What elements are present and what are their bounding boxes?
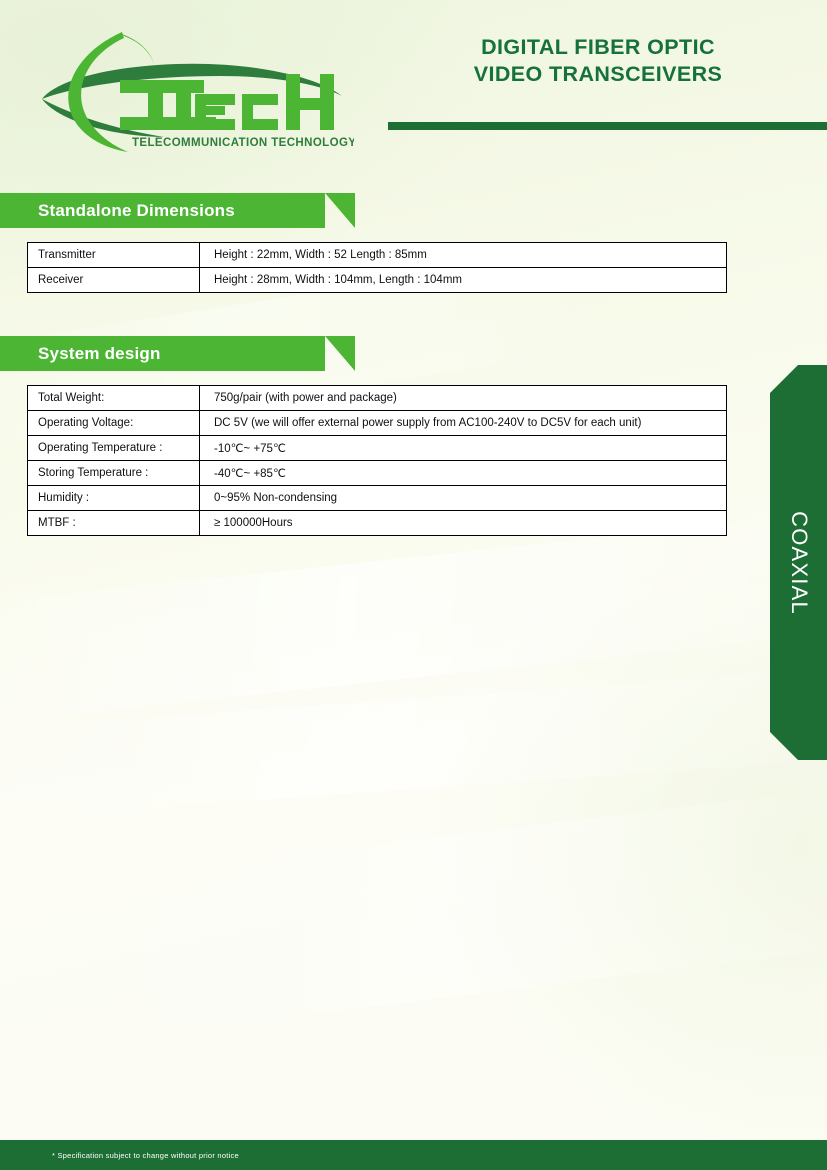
- logo-crescent: [68, 32, 128, 152]
- row-label: Humidity :: [28, 486, 200, 511]
- table-row: Operating Temperature : -10℃~ +75℃: [28, 436, 727, 461]
- side-tab-label: COAXIAL: [786, 511, 812, 615]
- section-header-label: System design: [0, 344, 161, 364]
- background-streak: [0, 669, 827, 820]
- page-title-line-1: DIGITAL FIBER OPTIC: [388, 34, 808, 61]
- row-label: Operating Temperature :: [28, 436, 200, 461]
- section-header-label: Standalone Dimensions: [0, 201, 235, 221]
- row-label: Transmitter: [28, 243, 200, 268]
- logo-crescent-tip: [122, 34, 154, 64]
- row-label: Receiver: [28, 268, 200, 293]
- table-standalone-dimensions: Transmitter Height : 22mm, Width : 52 Le…: [27, 242, 727, 293]
- table-system-design: Total Weight: 750g/pair (with power and …: [27, 385, 727, 536]
- row-label: Total Weight:: [28, 386, 200, 411]
- row-label: Storing Temperature :: [28, 461, 200, 486]
- table-row: Humidity : 0~95% Non-condensing: [28, 486, 727, 511]
- row-value: 0~95% Non-condensing: [200, 486, 727, 511]
- section-header-system-design: System design: [0, 336, 325, 371]
- page-header: TELECOMMUNICATION TECHNOLOGY DIGITAL FIB…: [0, 0, 827, 185]
- table-row: MTBF : ≥ 100000Hours: [28, 511, 727, 536]
- page-title: DIGITAL FIBER OPTIC VIDEO TRANSCEIVERS: [388, 34, 808, 88]
- page-footer: * Specification subject to change withou…: [0, 1140, 827, 1170]
- company-logo: TELECOMMUNICATION TECHNOLOGY: [24, 24, 354, 156]
- row-value: Height : 28mm, Width : 104mm, Length : 1…: [200, 268, 727, 293]
- page-title-line-2: VIDEO TRANSCEIVERS: [388, 61, 808, 88]
- side-tab-coaxial: COAXIAL: [770, 365, 827, 760]
- logo-svg: TELECOMMUNICATION TECHNOLOGY: [24, 24, 354, 156]
- row-value: 750g/pair (with power and package): [200, 386, 727, 411]
- table-row: Operating Voltage: DC 5V (we will offer …: [28, 411, 727, 436]
- table-row: Storing Temperature : -40℃~ +85℃: [28, 461, 727, 486]
- background-streak: [0, 513, 827, 726]
- row-value: Height : 22mm, Width : 52 Length : 85mm: [200, 243, 727, 268]
- background-streak: [113, 784, 827, 1035]
- section-header-standalone-dimensions: Standalone Dimensions: [0, 193, 325, 228]
- footer-disclaimer: * Specification subject to change withou…: [0, 1151, 239, 1160]
- row-value: -10℃~ +75℃: [200, 436, 727, 461]
- title-underline-rule: [388, 122, 827, 130]
- row-value: ≥ 100000Hours: [200, 511, 727, 536]
- table-row: Transmitter Height : 22mm, Width : 52 Le…: [28, 243, 727, 268]
- row-label: Operating Voltage:: [28, 411, 200, 436]
- table-row: Total Weight: 750g/pair (with power and …: [28, 386, 727, 411]
- row-value: -40℃~ +85℃: [200, 461, 727, 486]
- table-row: Receiver Height : 28mm, Width : 104mm, L…: [28, 268, 727, 293]
- logo-tagline: TELECOMMUNICATION TECHNOLOGY: [132, 137, 354, 149]
- row-value: DC 5V (we will offer external power supp…: [200, 411, 727, 436]
- row-label: MTBF :: [28, 511, 200, 536]
